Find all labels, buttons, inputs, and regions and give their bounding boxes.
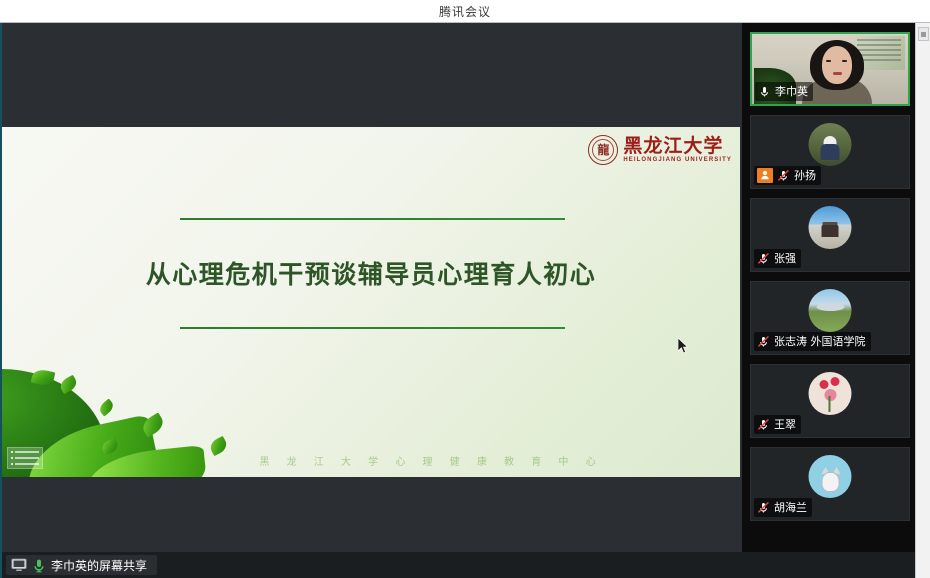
participant-name: 张志涛 外国语学院	[774, 333, 866, 349]
minimize-toolbar-button[interactable]	[918, 27, 929, 41]
avatar-torso	[821, 144, 840, 160]
participant-name: 王翠	[774, 416, 796, 432]
participant-nameplate: 胡海兰	[754, 498, 812, 517]
participant-avatar	[809, 206, 852, 249]
screen-share-icon	[11, 558, 27, 572]
screen-share-label: 李巾英的屏幕共享	[51, 557, 147, 574]
participant-nameplate: 张志涛 外国语学院	[754, 332, 871, 351]
person-eye	[842, 60, 847, 62]
microphone-muted-icon	[757, 418, 770, 431]
shared-slide[interactable]: 龍 黑龙江大学 HEILONGJIANG UNIVERSITY 从心理危机干预谈…	[2, 127, 740, 477]
title-rule-bottom	[180, 327, 565, 329]
microphone-muted-icon	[757, 335, 770, 348]
participant-name: 胡海兰	[774, 499, 807, 515]
participant-tile[interactable]: 王翠	[750, 364, 910, 438]
microphone-muted-icon	[757, 501, 770, 514]
avatar-rose-bud	[820, 380, 829, 389]
person-face	[822, 46, 852, 84]
window-right-rail	[915, 23, 930, 578]
microphone-icon	[758, 85, 771, 98]
participant-filmstrip[interactable]: 李巾英 孙扬	[742, 23, 915, 552]
participant-nameplate: 王翠	[754, 415, 801, 434]
participant-nameplate: 孙扬	[754, 166, 821, 185]
university-name-en: HEILONGJIANG UNIVERSITY	[623, 157, 732, 163]
title-rule-top	[180, 218, 565, 220]
avatar-rose-bud	[831, 377, 840, 386]
participant-nameplate: 张强	[754, 249, 801, 268]
slide-title: 从心理危机干预谈辅导员心理育人初心	[2, 255, 740, 291]
university-name-cn: 黑龙江大学	[623, 137, 732, 156]
participant-tile[interactable]: 李巾英	[750, 32, 910, 106]
participant-tile[interactable]: 胡海兰	[750, 447, 910, 521]
seal-glyph: 龍	[597, 144, 609, 156]
person-mouth	[833, 72, 842, 75]
tencent-meeting-window: 腾讯会议 龍 黑龙江大学 HEILONGJIANG UNIVERSITY 从心理…	[0, 0, 930, 578]
participant-name: 李巾英	[775, 83, 808, 99]
participant-avatar	[809, 123, 852, 166]
participant-avatar	[809, 455, 852, 498]
university-logo: 龍 黑龙江大学 HEILONGJIANG UNIVERSITY	[588, 133, 732, 167]
microphone-muted-icon	[777, 169, 790, 182]
window-titlebar: 腾讯会议	[0, 0, 930, 23]
button-glyph-icon	[921, 32, 926, 37]
screen-share-indicator[interactable]: 李巾英的屏幕共享	[6, 555, 157, 575]
slide-footer: 黑 龙 江 大 学 心 理 健 康 教 育 中 心	[2, 453, 740, 468]
host-person-icon	[757, 168, 773, 183]
microphone-muted-icon	[757, 252, 770, 265]
participant-tile[interactable]: 张志涛 外国语学院	[750, 281, 910, 355]
participant-avatar	[809, 289, 852, 332]
participant-avatar	[809, 372, 852, 415]
leaf-shape	[97, 398, 116, 416]
avatar-rose-bud	[825, 389, 837, 401]
screen-share-status-bar: 李巾英的屏幕共享	[2, 552, 915, 578]
avatar-rose-stem	[829, 396, 831, 412]
window-title: 腾讯会议	[439, 3, 491, 20]
person-eye	[826, 60, 831, 62]
participant-name: 张强	[774, 250, 796, 266]
participant-nameplate: 李巾英	[755, 82, 813, 101]
university-seal-icon: 龍	[588, 135, 618, 165]
university-logo-text: 黑龙江大学 HEILONGJIANG UNIVERSITY	[623, 137, 732, 163]
avatar-cat-body	[822, 472, 840, 492]
microphone-icon	[32, 558, 46, 573]
participant-tile[interactable]: 孙扬	[750, 115, 910, 189]
participant-tile[interactable]: 张强	[750, 198, 910, 272]
participant-name: 孙扬	[794, 167, 816, 183]
